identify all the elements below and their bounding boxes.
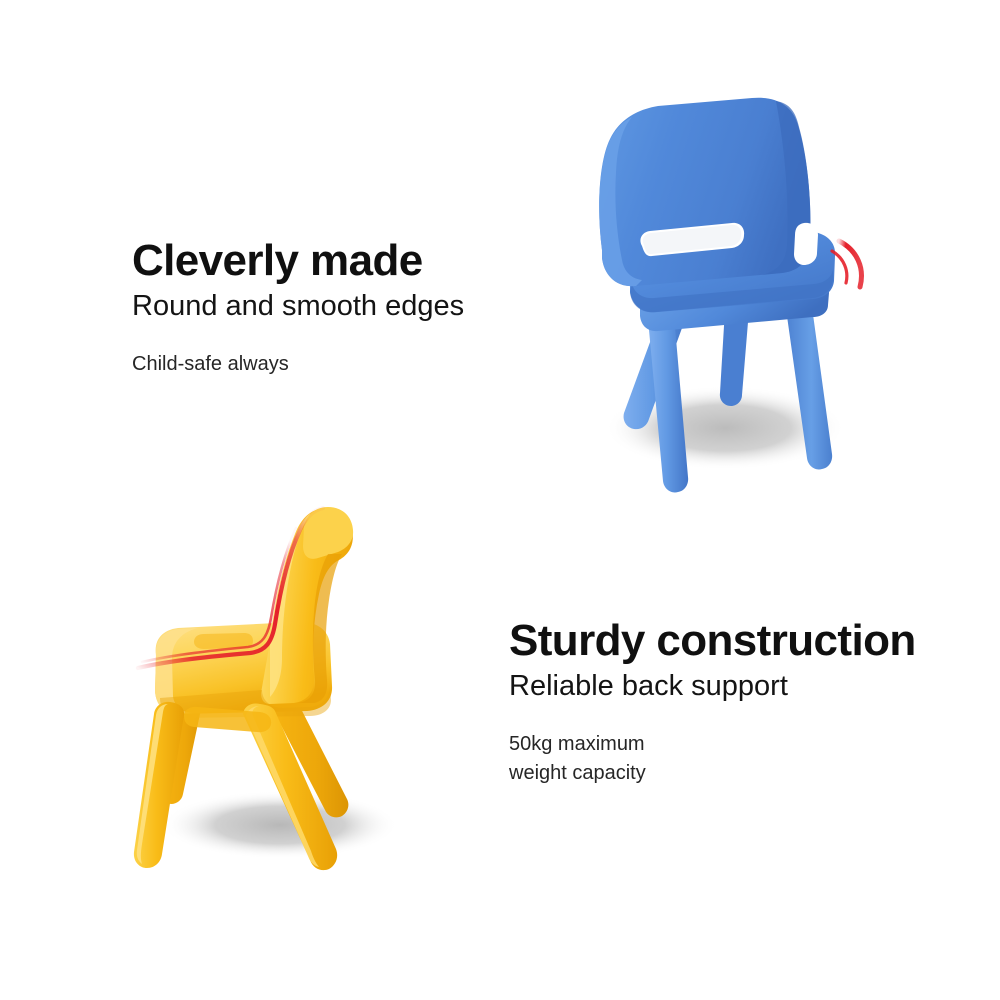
blue-kids-chair-image	[540, 95, 900, 495]
feature-body-weight-capacity: 50kg maximum weight capacity	[509, 730, 916, 788]
yellow-chair-shadow	[162, 791, 398, 859]
feature-subhead-round-smooth-edges: Round and smooth edges	[132, 288, 464, 324]
feature-block-sturdy-construction: Sturdy construction Reliable back suppor…	[509, 616, 916, 788]
product-feature-canvas: Cleverly made Round and smooth edges Chi…	[0, 0, 1000, 1000]
feature-headline-cleverly-made: Cleverly made	[132, 236, 464, 286]
blue-chair-backrest	[599, 98, 810, 286]
feature-headline-sturdy-construction: Sturdy construction	[509, 616, 916, 666]
feature-subhead-reliable-back-support: Reliable back support	[509, 668, 916, 704]
yellow-kids-chair-image	[120, 490, 450, 910]
blue-chair-side-notch	[794, 223, 818, 265]
feature-body-child-safe-always: Child-safe always	[132, 350, 464, 378]
feature-block-cleverly-made: Cleverly made Round and smooth edges Chi…	[132, 236, 464, 378]
